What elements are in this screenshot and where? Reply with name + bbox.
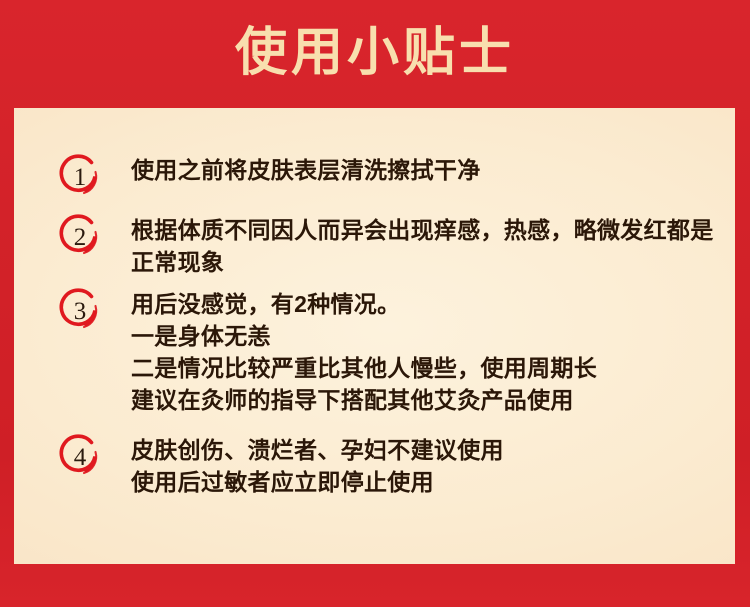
list-item: 2 根据体质不同因人而异会出现痒感，热感，略微发红都是 正常现象	[56, 212, 721, 278]
list-item: 3 用后没感觉，有2种情况。 一是身体无恙 二是情况比较严重比其他人慢些，使用周…	[56, 286, 721, 416]
list-item: 4 皮肤创伤、溃烂者、孕妇不建议使用 使用后过敏者应立即停止使用	[56, 432, 721, 498]
tip-text-block: 皮肤创伤、溃烂者、孕妇不建议使用 使用后过敏者应立即停止使用	[131, 432, 721, 498]
number-badge-circle-icon: 2	[56, 212, 104, 260]
tip-line: 根据体质不同因人而异会出现痒感，热感，略微发红都是	[131, 214, 721, 246]
list-item: 1 使用之前将皮肤表层清洗擦拭干净	[56, 152, 721, 186]
number-badge-label: 1	[74, 164, 87, 191]
tip-line: 二是情况比较严重比其他人慢些，使用周期长	[131, 352, 721, 384]
tip-text-block: 用后没感觉，有2种情况。 一是身体无恙 二是情况比较严重比其他人慢些，使用周期长…	[131, 286, 721, 416]
tip-line: 正常现象	[131, 246, 721, 278]
tip-line: 建议在灸师的指导下搭配其他艾灸产品使用	[131, 384, 721, 416]
tips-panel: 1 使用之前将皮肤表层清洗擦拭干净 2 根据体质不同因人而异会出现痒感，热感，略	[14, 108, 735, 564]
number-badge-circle-icon: 4	[56, 432, 104, 480]
poster-header: 使用小贴士	[0, 0, 750, 108]
tip-line: 一是身体无恙	[131, 320, 721, 352]
number-badge-label: 2	[74, 224, 87, 251]
number-badge-label: 4	[74, 444, 87, 471]
tip-line: 使用后过敏者应立即停止使用	[131, 466, 721, 498]
tip-text-block: 根据体质不同因人而异会出现痒感，热感，略微发红都是 正常现象	[131, 212, 721, 278]
tips-list: 1 使用之前将皮肤表层清洗擦拭干净 2 根据体质不同因人而异会出现痒感，热感，略	[14, 108, 735, 564]
number-badge-label: 3	[74, 298, 87, 325]
promo-poster: 使用小贴士 1 使用之前将皮肤表层清洗擦拭干净	[0, 0, 750, 607]
number-badge-circle-icon: 3	[56, 286, 104, 334]
tip-line: 用后没感觉，有2种情况。	[131, 288, 721, 320]
page-title: 使用小贴士	[235, 27, 515, 79]
tip-line: 使用之前将皮肤表层清洗擦拭干净	[131, 154, 721, 186]
number-badge-circle-icon: 1	[56, 152, 104, 200]
tip-line: 皮肤创伤、溃烂者、孕妇不建议使用	[131, 434, 721, 466]
tip-text-block: 使用之前将皮肤表层清洗擦拭干净	[131, 152, 721, 186]
